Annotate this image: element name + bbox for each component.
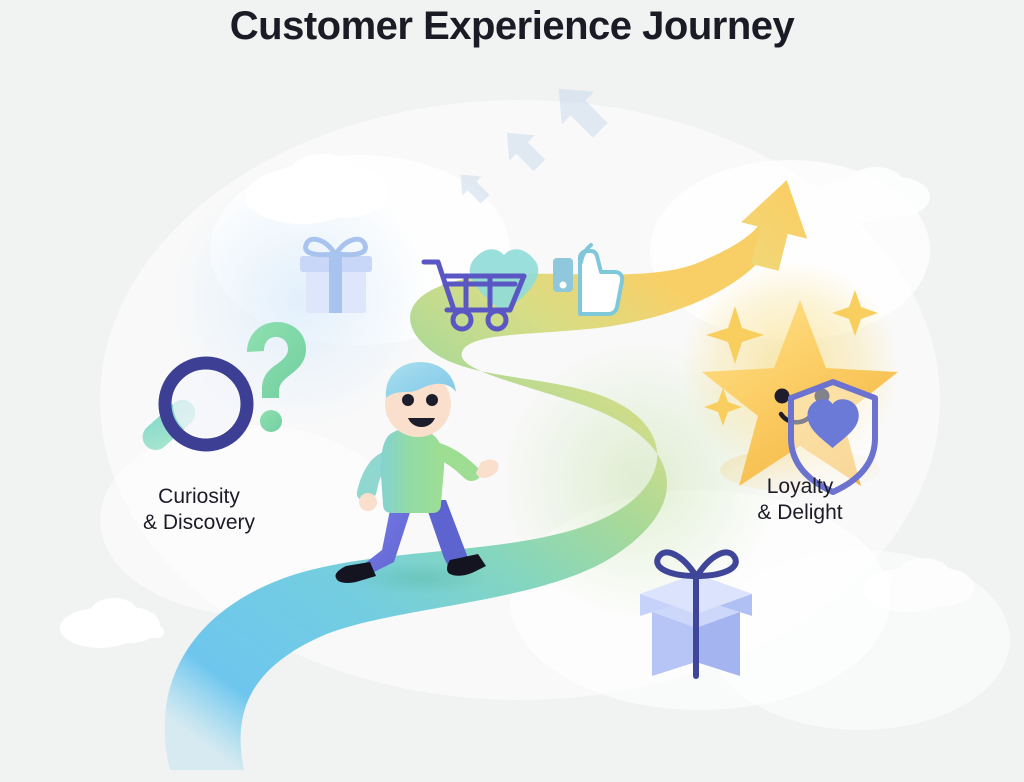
page-title: Customer Experience Journey [0,0,1024,52]
journey-illustration [0,0,1024,782]
illustration-canvas: Customer Experience Journey Curiosity & … [0,0,1024,782]
stage-label-loyalty-line2: & Delight [700,500,900,526]
stage-label-loyalty: Loyalty & Delight [700,474,900,526]
stage-label-curiosity-line1: Curiosity [84,484,314,510]
stage-label-curiosity-line2: & Discovery [84,510,314,536]
stage-label-loyalty-line1: Loyalty [700,474,900,500]
stage-label-curiosity: Curiosity & Discovery [84,484,314,536]
